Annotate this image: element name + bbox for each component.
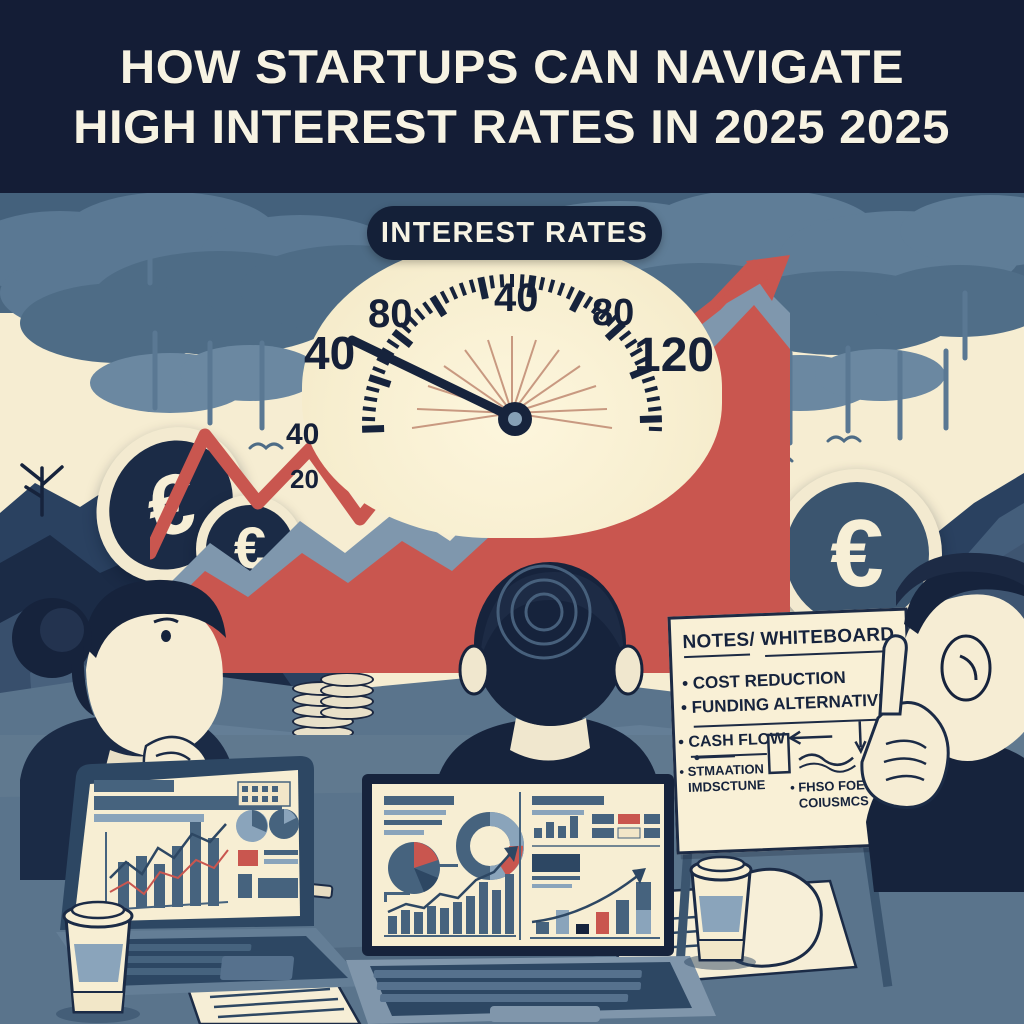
gauge-label-40a: 40 [286,418,319,452]
poster-root: 20 40 40 80 40 80 120 INTEREST RATES [0,0,1024,1024]
gauge-label-20: 20 [290,464,319,495]
gauge-label-80a: 80 [368,292,413,337]
coffee-cup-left [44,888,154,1024]
page-title-line-1: HOW STARTUPS CAN NAVIGATE [120,37,904,97]
poster-header: HOW STARTUPS CAN NAVIGATE HIGH INTEREST … [0,0,1024,193]
person-man-profile [856,552,1024,892]
page-title-line-2: HIGH INTEREST RATES IN 2025 2025 [74,97,951,157]
interest-rate-gauge: 20 40 40 80 40 80 120 INTEREST RATES [262,228,762,558]
laptop-center[interactable] [340,770,720,1024]
badge-label: INTEREST RATES [381,217,648,250]
gauge-label-40top: 40 [494,276,539,321]
gauge-label-120: 120 [634,328,714,383]
gauge-label-80b: 80 [592,292,634,335]
gauge-label-40b: 40 [304,326,355,380]
interest-rates-badge: INTEREST RATES [367,206,662,260]
gauge-needle [352,340,532,436]
coffee-cup-right [672,846,772,976]
